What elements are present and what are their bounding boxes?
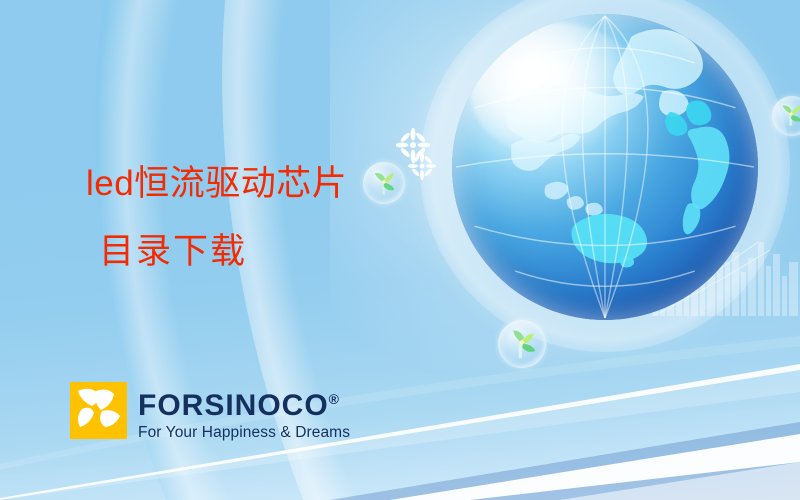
four-petal-pinwheel-icon xyxy=(70,382,127,439)
headline-line-1: led恒流驱动芯片 xyxy=(86,162,506,206)
brand-wordmark: FORSINOCO® xyxy=(138,384,350,421)
headline-line-2: 目录下载 xyxy=(86,230,506,274)
brand-logo[interactable]: FORSINOCO® For Your Happiness & Dreams xyxy=(70,382,350,442)
registered-trademark-mark: ® xyxy=(329,391,339,407)
brand-logo-text: FORSINOCO® For Your Happiness & Dreams xyxy=(138,382,350,442)
banner-canvas: led恒流驱动芯片 目录下载 FORSINOCO® For Your Happi… xyxy=(0,0,800,500)
page-title: led恒流驱动芯片 目录下载 xyxy=(86,162,506,274)
brand-tagline: For Your Happiness & Dreams xyxy=(138,423,350,442)
brand-wordmark-text: FORSINOCO xyxy=(138,389,329,422)
bubble-pinwheel-icon xyxy=(498,320,546,368)
